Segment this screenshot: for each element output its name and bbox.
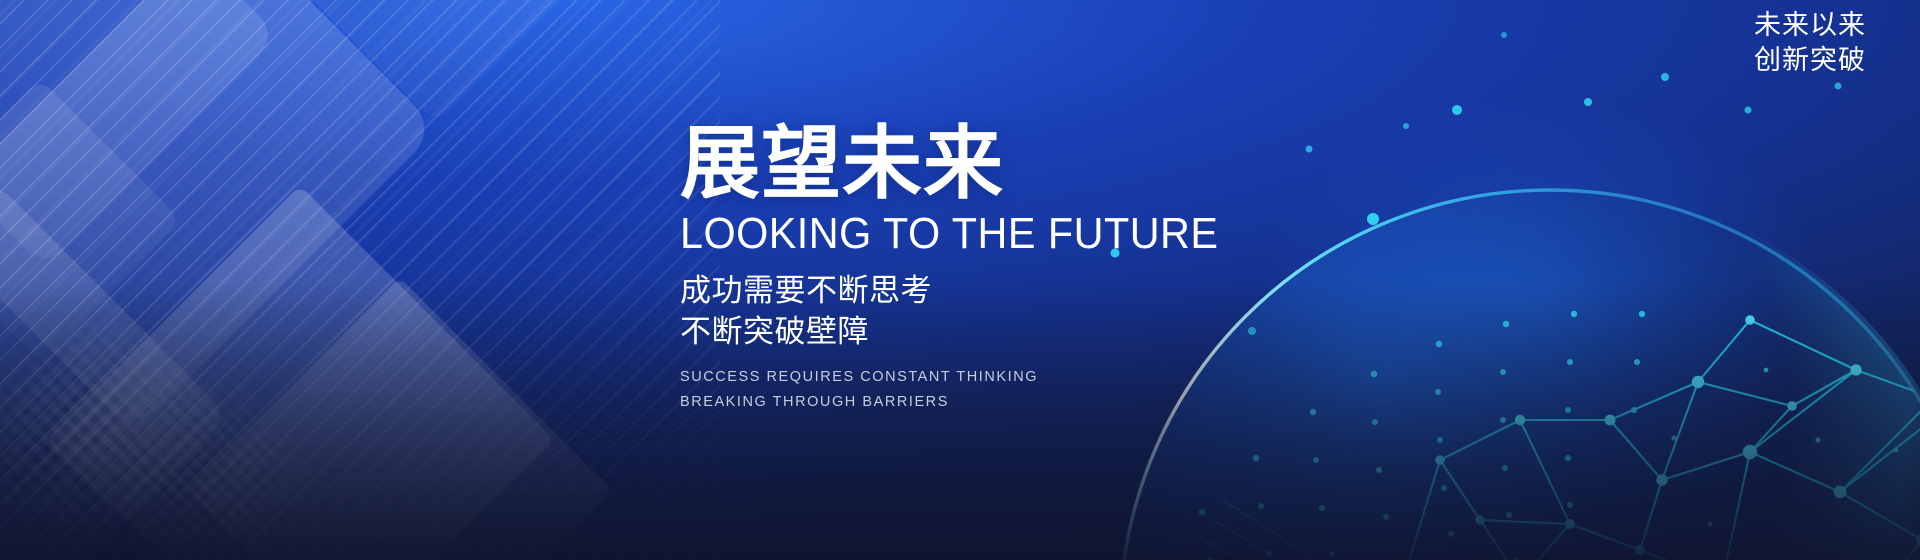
title-english: LOOKING TO THE FUTURE [680,210,1394,258]
subtitle-english-line1: SUCCESS REQUIRES CONSTANT THINKING [680,365,1440,390]
subtitle-chinese-line2: 不断突破壁障 [680,311,1440,352]
corner-tagline: 未来以来 创新突破 [1754,8,1866,78]
subtitle-english: SUCCESS REQUIRES CONSTANT THINKING BREAK… [680,365,1440,415]
title-chinese: 展望未来 [680,124,1440,204]
subtitle-chinese-line1: 成功需要不断思考 [680,270,1440,311]
corner-tagline-line1: 未来以来 [1754,8,1866,43]
corner-tagline-line2: 创新突破 [1754,43,1866,78]
headline-block: 展望未来 LOOKING TO THE FUTURE 成功需要不断思考 不断突破… [680,124,1440,415]
hero-banner: 未来以来 创新突破 展望未来 LOOKING TO THE FUTURE 成功需… [0,0,1920,560]
subtitle-chinese: 成功需要不断思考 不断突破壁障 [680,270,1440,352]
subtitle-english-line2: BREAKING THROUGH BARRIERS [680,390,1440,415]
